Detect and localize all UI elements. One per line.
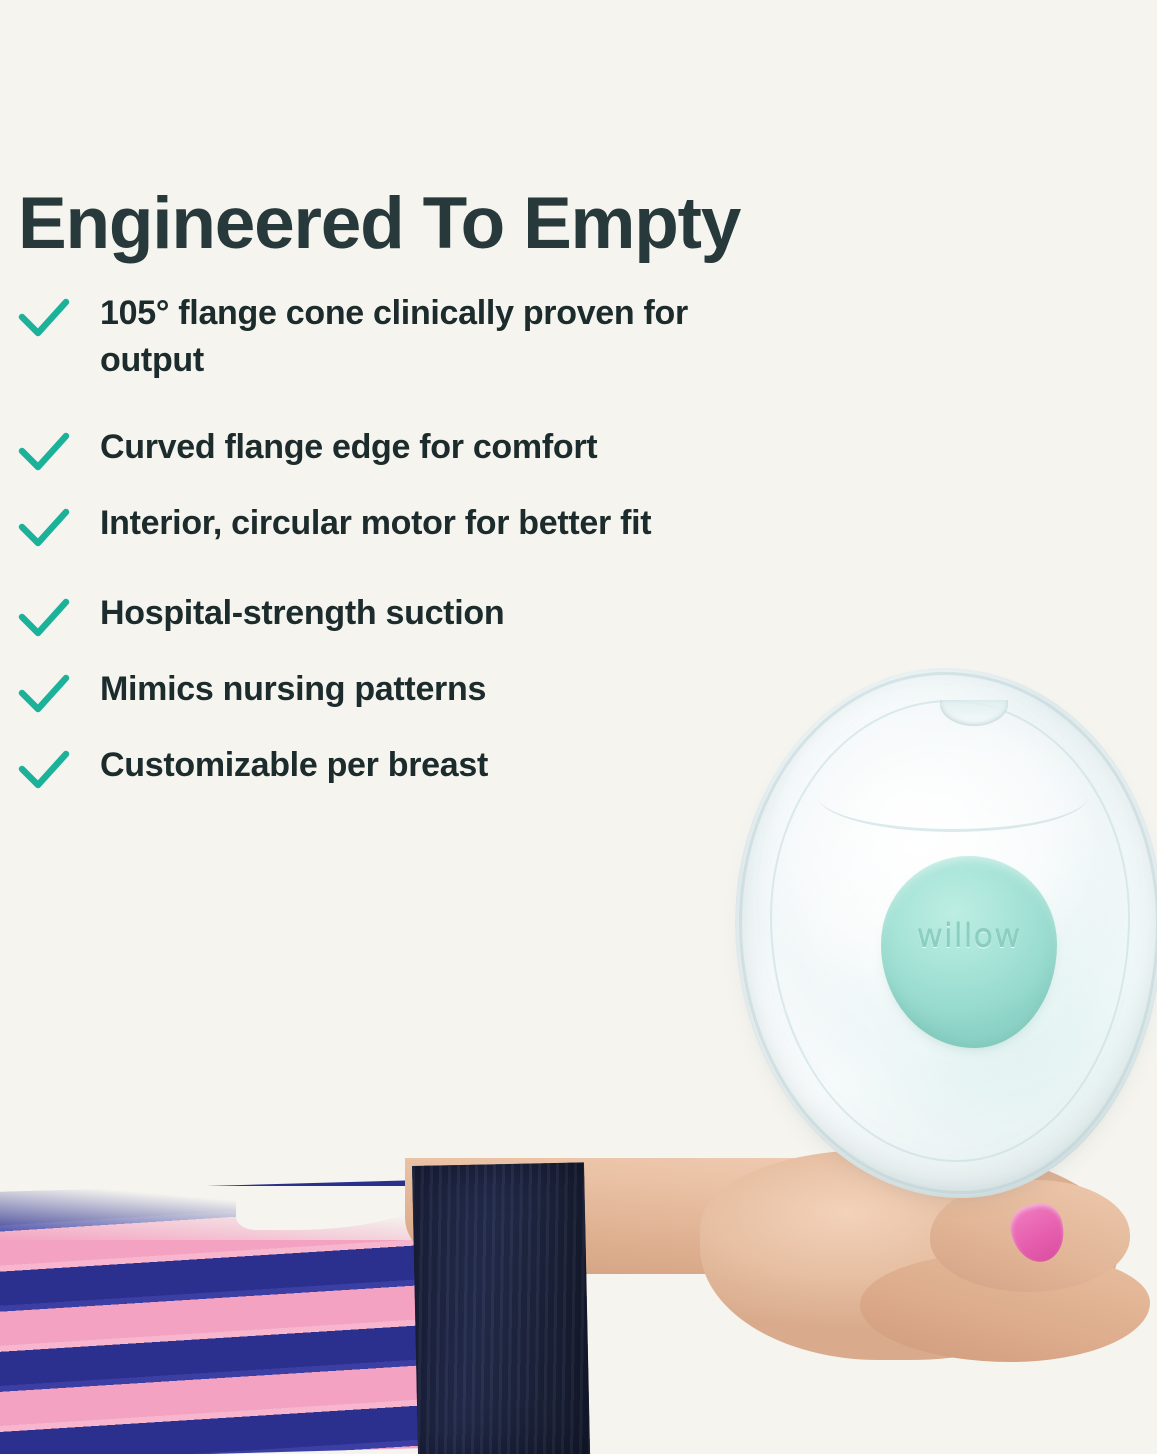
check-icon xyxy=(0,590,100,640)
benefit-label: Customizable per breast xyxy=(100,742,760,789)
benefit-label: Mimics nursing patterns xyxy=(100,666,760,713)
forearm xyxy=(405,1158,965,1274)
pump-lid-seam xyxy=(818,760,1088,832)
thumb xyxy=(930,1180,1130,1292)
sleeve-shoulder-mask xyxy=(236,1186,436,1230)
list-item: 105° flange cone clinically proven for o… xyxy=(0,290,760,384)
list-item: Interior, circular motor for better fit xyxy=(0,500,760,550)
thumbnail-polish xyxy=(1006,1199,1070,1268)
benefit-label: Hospital-strength suction xyxy=(100,590,760,637)
benefit-list: 105° flange cone clinically proven for o… xyxy=(0,290,760,792)
sleeve-cuff-texture xyxy=(412,1162,590,1454)
benefit-label: Interior, circular motor for better fit xyxy=(100,500,760,547)
list-item: Curved flange edge for comfort xyxy=(0,424,760,474)
list-item: Hospital-strength suction xyxy=(0,590,760,640)
pump-lid-tab xyxy=(940,700,1008,726)
check-icon xyxy=(0,500,100,550)
benefit-label: 105° flange cone clinically proven for o… xyxy=(100,290,760,384)
promo-graphic: willow Engineered To Empty 105° flange c… xyxy=(0,0,1157,1454)
sleeve-top-fade xyxy=(0,1186,432,1240)
check-icon xyxy=(0,742,100,792)
fingers xyxy=(860,1252,1150,1362)
breast-pump-shell xyxy=(735,668,1157,1198)
pump-inner-ring xyxy=(770,700,1130,1162)
pump-power-button: willow xyxy=(881,856,1057,1048)
benefit-label: Curved flange edge for comfort xyxy=(100,424,760,471)
willow-brand-label: willow xyxy=(881,920,1057,952)
hand xyxy=(700,1150,1120,1360)
list-item: Customizable per breast xyxy=(0,742,760,792)
list-item: Mimics nursing patterns xyxy=(0,666,760,716)
page-title: Engineered To Empty xyxy=(18,182,740,266)
pump-outer-rim xyxy=(739,672,1157,1194)
check-icon xyxy=(0,666,100,716)
sleeve-cuff xyxy=(412,1162,590,1454)
check-icon xyxy=(0,290,100,340)
striped-sleeve xyxy=(0,1180,431,1454)
check-icon xyxy=(0,424,100,474)
